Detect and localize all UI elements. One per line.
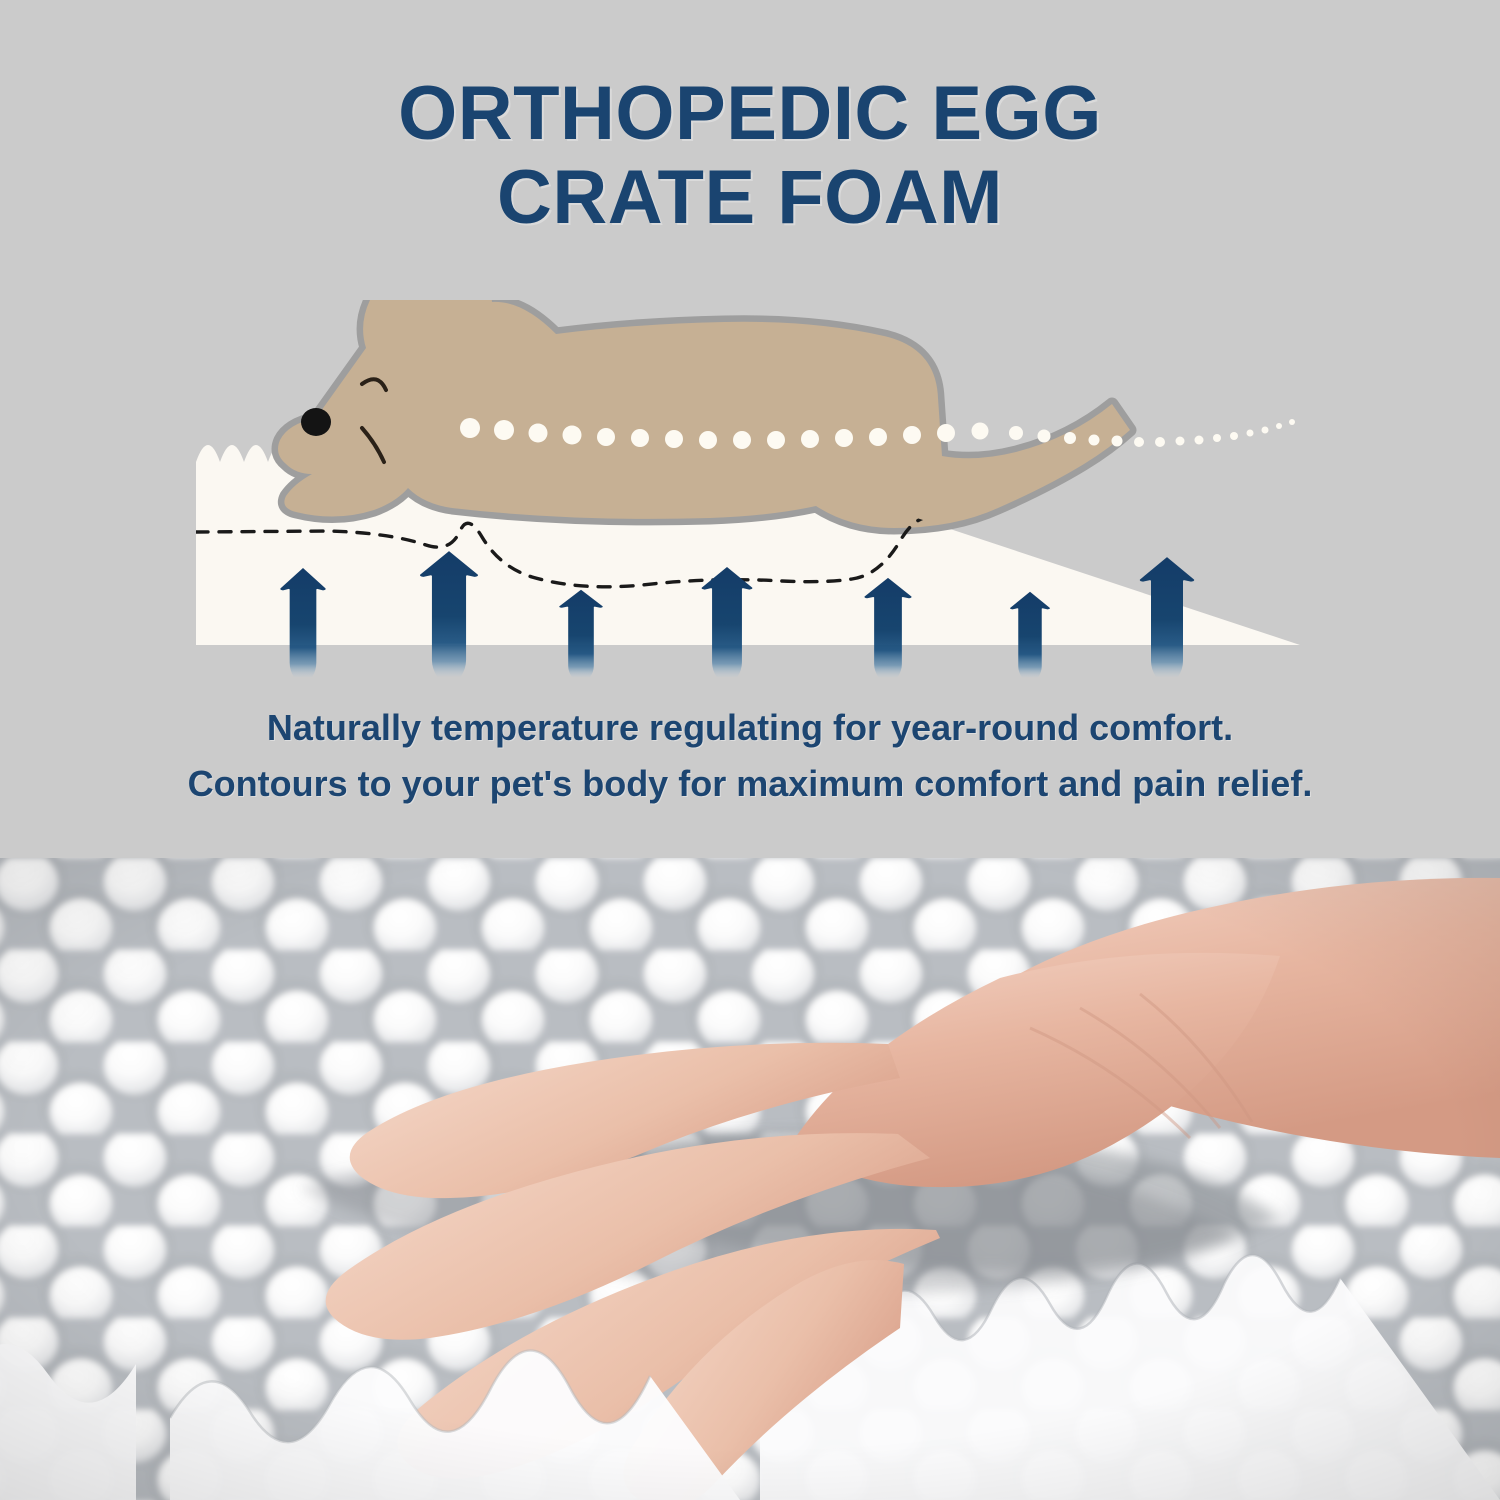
sleeping-dog-illustration	[278, 300, 1295, 528]
dog-on-foam-diagram	[0, 300, 1500, 680]
dog-nose	[301, 408, 331, 436]
hand-pressing-foam-photo	[0, 858, 1500, 1500]
feature-caption-line-1: Naturally temperature regulating for yea…	[0, 700, 1500, 756]
product-infographic: ORTHOPEDIC EGG CRATE FOAM	[0, 0, 1500, 1500]
feature-caption: Naturally temperature regulating for yea…	[0, 700, 1500, 812]
page-title-line-2: CRATE FOAM	[0, 156, 1500, 240]
photo-vignette	[0, 858, 1500, 1500]
feature-caption-line-2: Contours to your pet's body for maximum …	[0, 756, 1500, 812]
page-title: ORTHOPEDIC EGG CRATE FOAM	[0, 72, 1500, 240]
infographic-panel: ORTHOPEDIC EGG CRATE FOAM	[0, 0, 1500, 858]
page-title-line-1: ORTHOPEDIC EGG	[0, 72, 1500, 156]
